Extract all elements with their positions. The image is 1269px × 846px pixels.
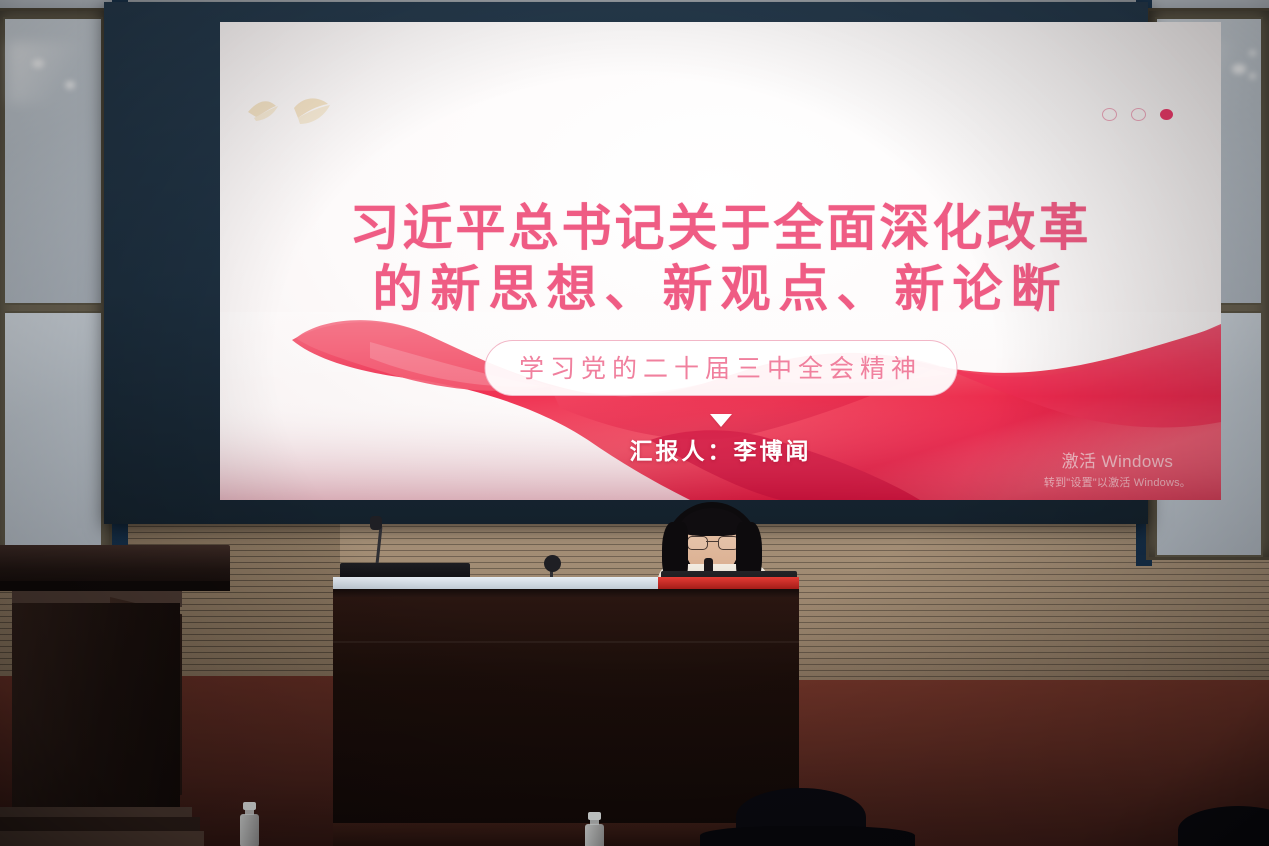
dot-2-icon <box>1131 108 1146 121</box>
light-reflection <box>1249 50 1256 56</box>
lectern-front-face <box>12 603 180 813</box>
projection-screen-frame: 习近平总书记关于全面深化改革 的新思想、新观点、新论断 学习党的二十届三中全会精… <box>104 2 1148 524</box>
glare-highlight <box>9 42 86 104</box>
whiteboard-panel <box>3 17 103 305</box>
slide-title-line-2: 的新思想、新观点、新论断 <box>220 259 1221 320</box>
golden-birds-icon <box>242 84 352 140</box>
presentation-slide[interactable]: 习近平总书记关于全面深化改革 的新思想、新观点、新论断 学习党的二十届三中全会精… <box>220 22 1221 500</box>
audience-member-shoulders <box>700 826 915 846</box>
wooden-lectern <box>0 545 235 846</box>
dot-3-icon <box>1160 109 1173 120</box>
microphone-head <box>544 555 561 572</box>
lecture-hall-scene: 习近平总书记关于全面深化改革 的新思想、新观点、新论断 学习党的二十届三中全会精… <box>0 0 1269 846</box>
glasses-lens-left <box>687 536 708 550</box>
triangle-marker-icon <box>710 414 732 427</box>
side-whiteboard-left <box>0 8 112 560</box>
slide-presenter-label: 汇报人：李博闻 <box>630 432 812 466</box>
slide-dot-group <box>1102 108 1173 121</box>
light-reflection <box>1249 73 1256 79</box>
desk-panel-seam <box>333 641 799 643</box>
light-reflection <box>32 59 44 68</box>
bottle-body <box>585 824 604 846</box>
dot-1-icon <box>1102 108 1117 121</box>
slide-title-line-1: 习近平总书记关于全面深化改革 <box>220 198 1221 259</box>
speaker-glasses-icon <box>687 536 737 548</box>
whiteboard-panel <box>3 311 103 557</box>
lectern-base-tier-3 <box>0 831 204 846</box>
presentation-desk <box>333 577 799 846</box>
glasses-bridge <box>706 541 718 542</box>
slide-title: 习近平总书记关于全面深化改革 的新思想、新观点、新论断 <box>220 198 1221 320</box>
slide-subtitle-pill: 学习党的二十届三中全会精神 <box>484 340 957 396</box>
lectern-top-edge <box>0 581 230 591</box>
desk-front-panel <box>333 597 799 825</box>
microphone-head <box>370 516 382 530</box>
lectern-top-surface <box>0 545 230 585</box>
bottle-body <box>240 814 259 846</box>
